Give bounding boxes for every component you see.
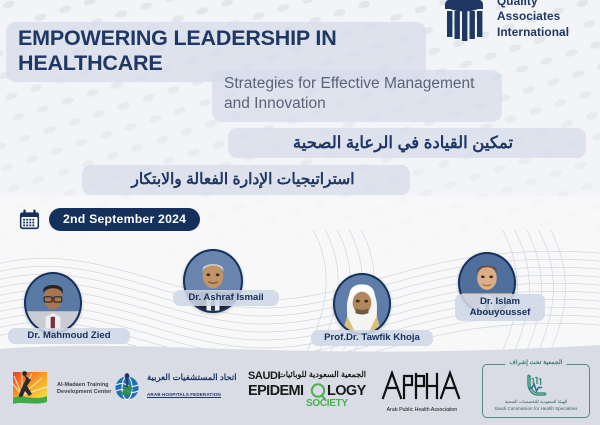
arpha-wordmark-icon: [379, 367, 465, 401]
avatar: [333, 273, 391, 335]
ses-word-logy: LOGY: [327, 383, 366, 399]
ses-word-saudi: SAUDI: [248, 370, 280, 382]
partner-logo-arab-hospitals-federation: اتحاد المستشفيات العربية ARAB HOSPITALS …: [112, 371, 237, 401]
ses-arabic: الجمعية السعودية للوبائيات: [278, 370, 366, 379]
partner-logo-saudi-commission: الجمعية تحت إشراف الهيئة السعودية للتخصص…: [482, 364, 590, 418]
speaker-photo: [335, 275, 389, 333]
speaker-name: Dr. Islam Abouyoussef: [455, 294, 545, 321]
ses-word-epidemi: EPIDEMI: [248, 383, 303, 399]
partner-name-arabic-ahf: اتحاد المستشفيات العربية: [147, 372, 237, 383]
partner-name-al-madaen: Al-Madaen Training Development Center: [57, 382, 111, 397]
poster-canvas: EMPOWERING LEADERSHIP IN HEALTHCARE Stra…: [0, 0, 600, 425]
partner-name-english-ahf: ARAB HOSPITALS FEDERATION: [147, 392, 221, 398]
sunburst-person-icon: [10, 369, 52, 409]
globe-caduceus-icon: [112, 371, 142, 401]
partner-logo-saudi-epidemiology-society: SAUDI الجمعية السعودية للوبائيات EPIDEMI…: [248, 368, 366, 412]
supervision-frame: الجمعية تحت إشراف الهيئة السعودية للتخصص…: [482, 364, 590, 418]
speaker-photo: [26, 274, 80, 332]
partner-logo-bar: Al-Madaen Training Development Center ات…: [0, 357, 600, 425]
partner-name-arpha: Arab Public Health Association: [378, 407, 466, 413]
speaker-name: Dr. Ashraf Ismail: [173, 290, 279, 306]
partner-name-arabic-scfhs: الهيئة السعودية للتخصصات الصحية: [505, 399, 568, 405]
palm-sword-pulse-icon: [523, 372, 549, 398]
partner-name-english-scfhs: Saudi Commission for Health Specialties: [494, 406, 577, 411]
partner-logo-arab-public-health-association: Arab Public Health Association: [378, 367, 466, 413]
partner-logo-al-madaen: Al-Madaen Training Development Center: [10, 369, 111, 409]
supervision-caption: الجمعية تحت إشراف: [505, 359, 566, 366]
avatar: [24, 272, 82, 334]
ses-word-society: SOCIETY: [306, 398, 348, 409]
speaker-name: Dr. Mahmoud Zied: [8, 328, 130, 344]
